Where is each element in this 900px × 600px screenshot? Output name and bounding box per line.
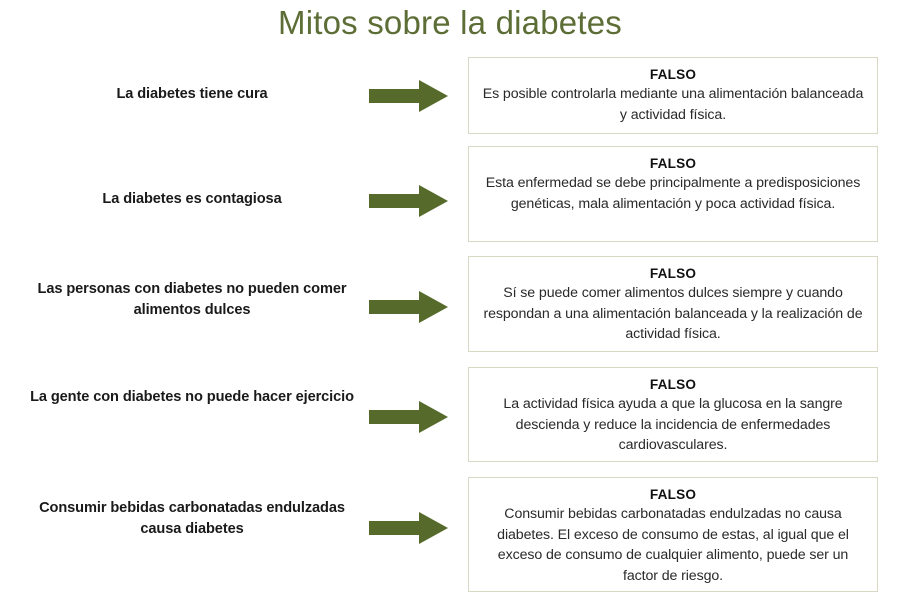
myth-label: La diabetes es contagiosa <box>22 189 362 210</box>
myth-label: Consumir bebidas carbonatadas endulzadas… <box>22 498 362 540</box>
myth-label: La diabetes tiene cura <box>22 84 362 105</box>
verdict-label: FALSO <box>479 375 867 394</box>
explanation-text: Consumir bebidas carbonatadas endulzadas… <box>479 504 867 586</box>
right-arrow-icon <box>369 400 449 434</box>
explanation-text: La actividad física ayuda a que la gluco… <box>479 394 867 456</box>
explanation-text: Esta enfermedad se debe principalmente a… <box>479 173 867 214</box>
right-arrow-icon <box>369 511 449 545</box>
answer-box: FALSO Sí se puede comer alimentos dulces… <box>468 256 878 352</box>
right-arrow-icon <box>369 79 449 113</box>
answer-box: FALSO Esta enfermedad se debe principalm… <box>468 146 878 242</box>
verdict-label: FALSO <box>479 485 867 504</box>
explanation-text: Es posible controlarla mediante una alim… <box>479 84 867 125</box>
myth-label: La gente con diabetes no puede hacer eje… <box>22 387 362 408</box>
answer-box: FALSO La actividad física ayuda a que la… <box>468 367 878 462</box>
verdict-label: FALSO <box>479 65 867 84</box>
myth-label: Las personas con diabetes no pueden come… <box>22 279 362 321</box>
verdict-label: FALSO <box>479 154 867 173</box>
explanation-text: Sí se puede comer alimentos dulces siemp… <box>479 283 867 345</box>
answer-box: FALSO Consumir bebidas carbonatadas endu… <box>468 477 878 592</box>
right-arrow-icon <box>369 184 449 218</box>
answer-box: FALSO Es posible controlarla mediante un… <box>468 57 878 134</box>
verdict-label: FALSO <box>479 264 867 283</box>
right-arrow-icon <box>369 290 449 324</box>
slide-canvas: Mitos sobre la diabetes La diabetes tien… <box>0 0 900 600</box>
page-title: Mitos sobre la diabetes <box>0 2 900 44</box>
